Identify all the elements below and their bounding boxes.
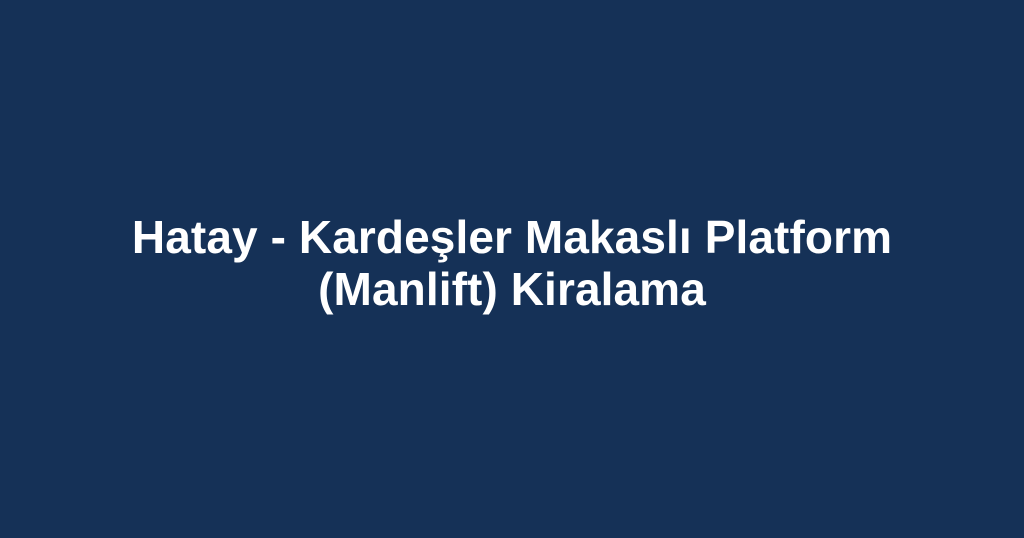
page-title: Hatay - Kardeşler Makaslı Platform (Manl…	[92, 211, 932, 315]
page-title-line-1: Hatay - Kardeşler Makaslı Platform	[132, 211, 892, 263]
banner-canvas: Hatay - Kardeşler Makaslı Platform (Manl…	[0, 0, 1024, 538]
title-block: Hatay - Kardeşler Makaslı Platform (Manl…	[0, 0, 1024, 538]
page-title-line-2: (Manlift) Kiralama	[132, 263, 892, 315]
